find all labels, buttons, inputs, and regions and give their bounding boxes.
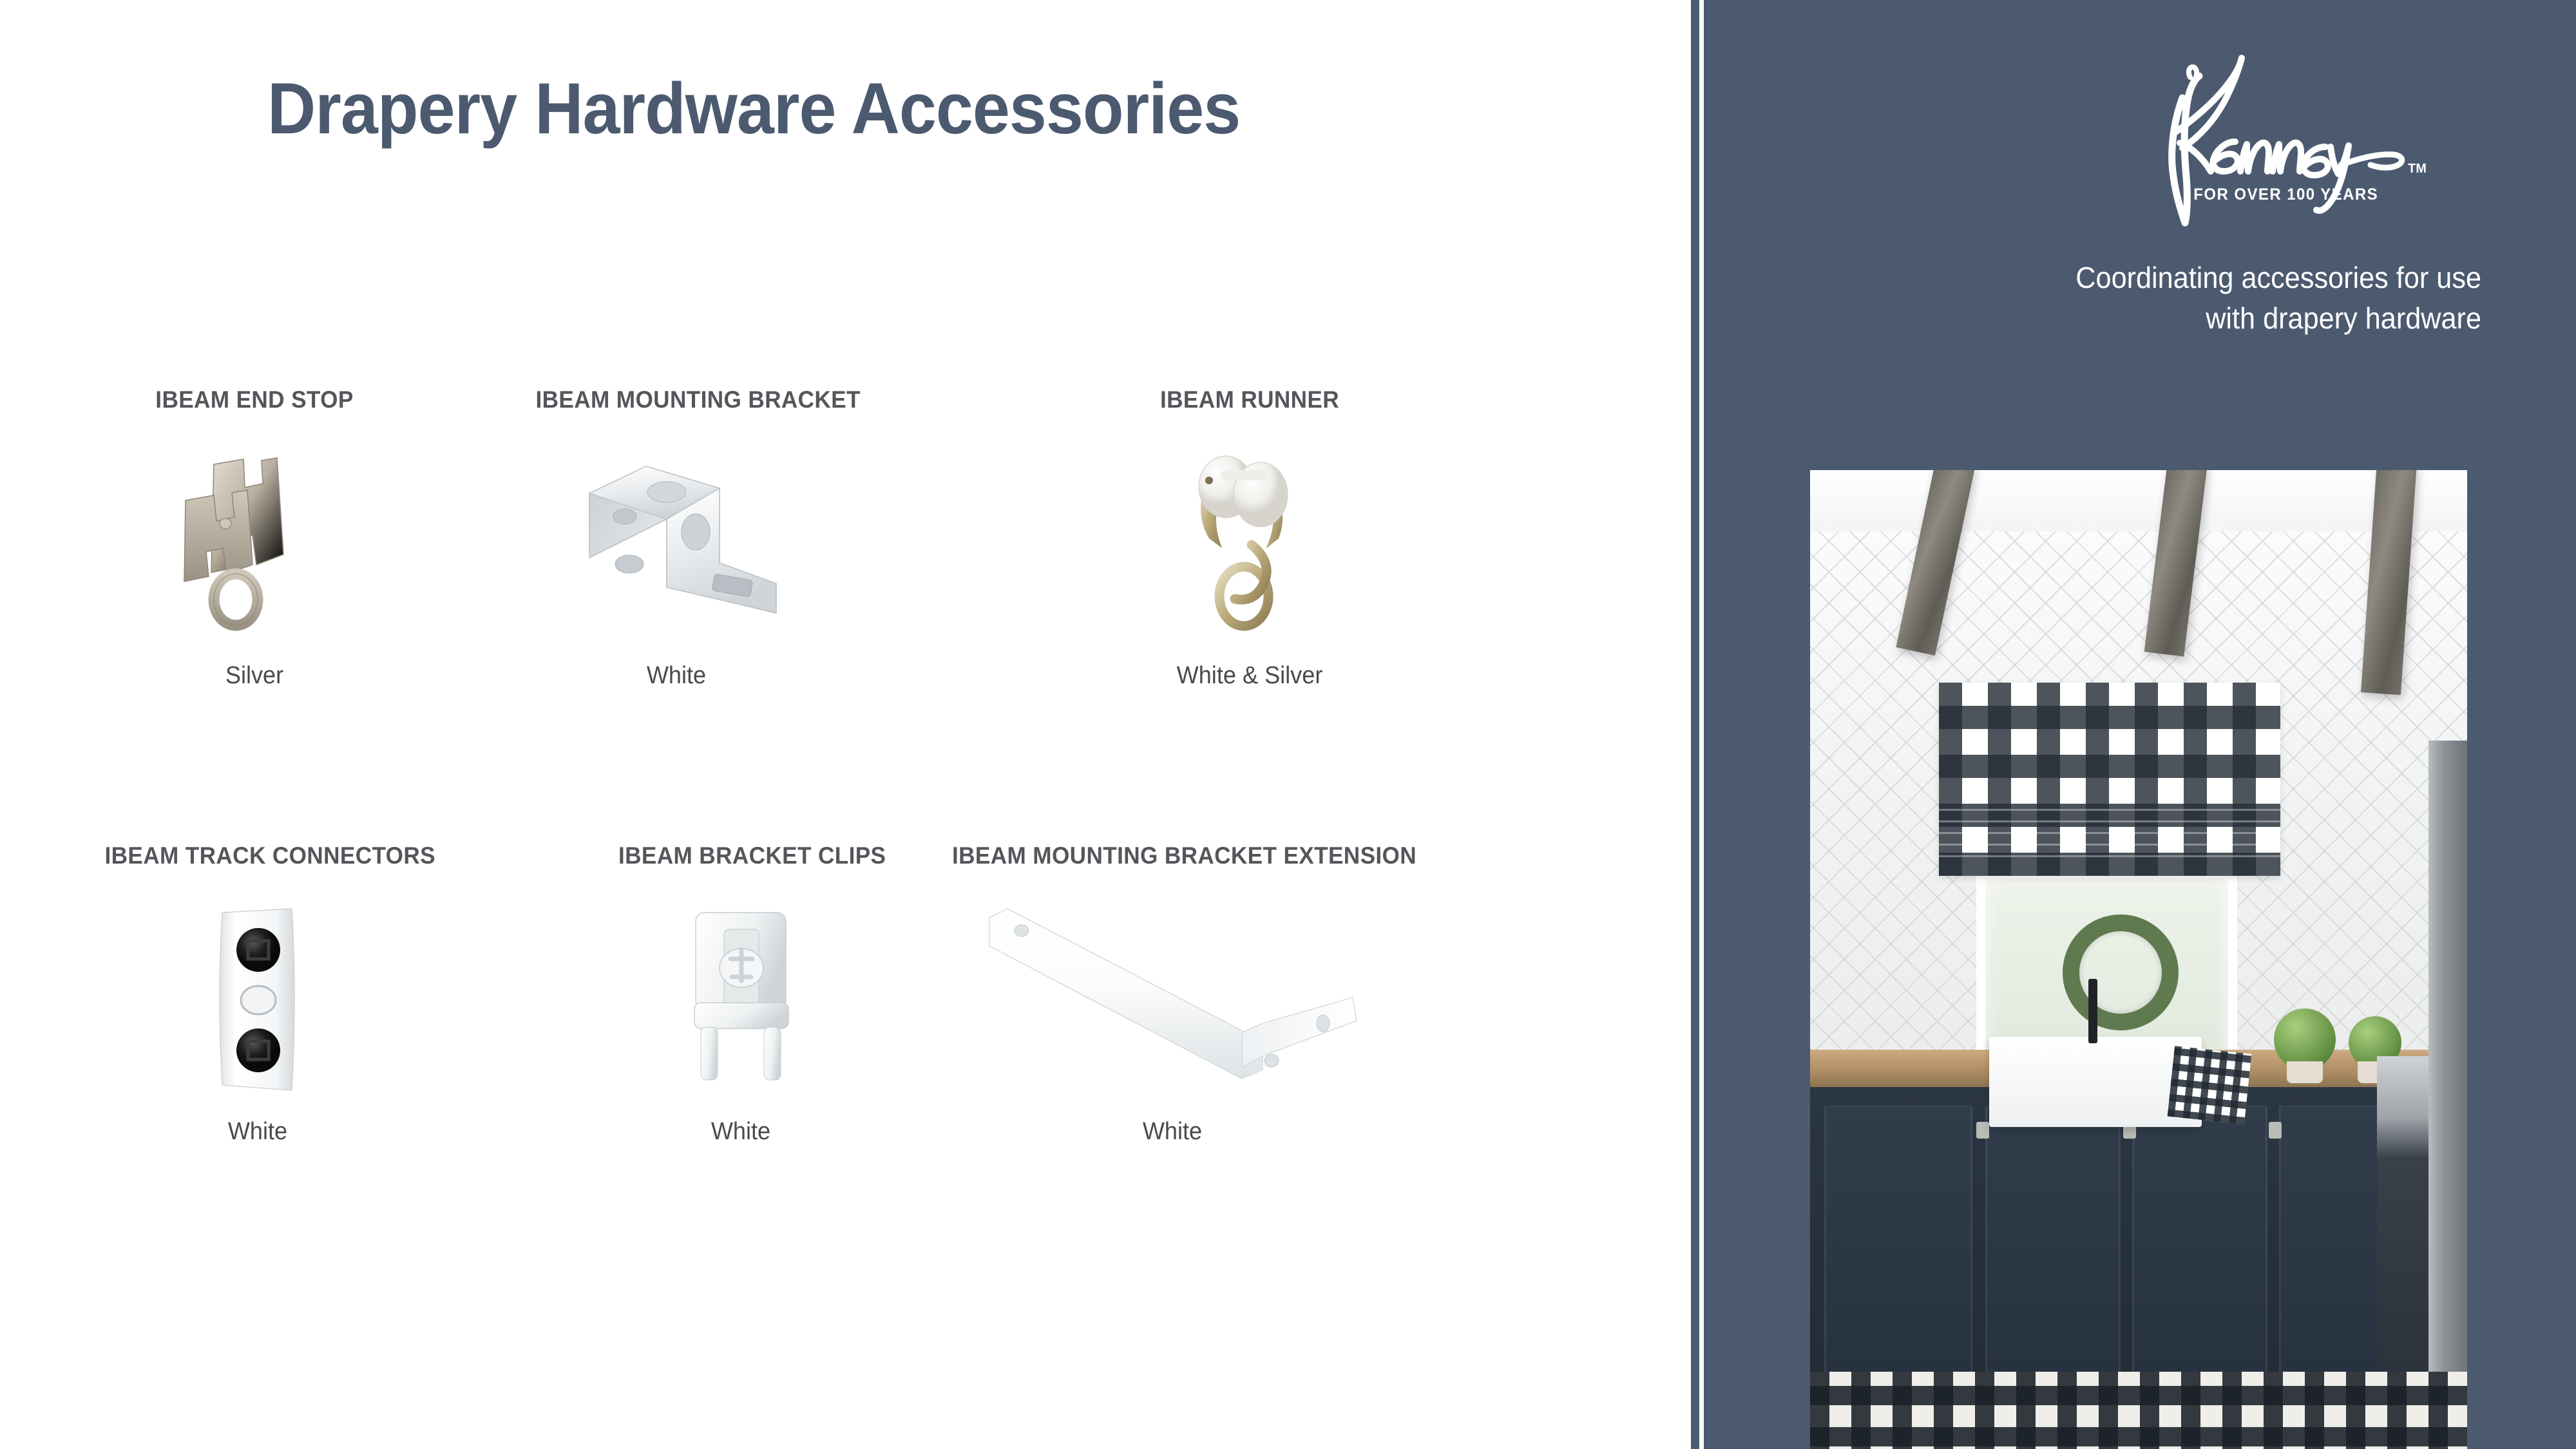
product-card-ibeam-track-connectors[interactable]: IBEAM TRACK CONNECTORS [97,842,419,1146]
kenney-logo: TM FOR OVER 100 YEARS [2121,39,2481,232]
product-color: White [105,1118,411,1146]
logo-tagline-text: FOR OVER 100 YEARS [2193,186,2378,204]
ibeam-runner-photo [1082,435,1417,648]
ibeam-mounting-bracket-photo [528,435,825,648]
ibeam-track-connectors-photo [97,891,419,1104]
product-name: IBEAM RUNNER [1091,386,1409,413]
product-name: IBEAM MOUNTING BRACKET [536,386,817,413]
ibeam-end-stop-photo [138,435,370,648]
content-pane: Drapery Hardware Accessories IBEAM END S… [0,0,1691,1449]
product-card-ibeam-runner[interactable]: IBEAM RUNNER [1082,386,1417,690]
product-card-ibeam-mounting-bracket-extension[interactable]: IBEAM MOUNTING BRACKET EXTENSION [940,842,1404,1146]
brand-tagline: Coordinating accessories for use with dr… [2021,258,2481,339]
product-color: White & Silver [1091,662,1409,690]
kitchen-room-photo [1810,470,2467,1449]
product-row: IBEAM TRACK CONNECTORS [0,842,1691,1298]
page-title: Drapery Hardware Accessories [267,71,1240,147]
product-grid: IBEAM END STOP [0,386,1691,1298]
product-color: White [618,1118,863,1146]
logo-trademark-text: TM [2408,162,2427,176]
product-card-ibeam-mounting-bracket[interactable]: IBEAM MOUNTING BRACKET [528,386,825,690]
product-color: White [952,1118,1393,1146]
ibeam-mounting-bracket-extension-photo [940,891,1404,1104]
slide-canvas: Drapery Hardware Accessories IBEAM END S… [0,0,2576,1449]
product-name: IBEAM TRACK CONNECTORS [105,842,411,869]
brand-tagline-line-1: Coordinating accessories for use [2021,258,2481,298]
product-card-ibeam-end-stop[interactable]: IBEAM END STOP [138,386,370,690]
product-name: IBEAM END STOP [144,386,365,413]
brand-pane: TM FOR OVER 100 YEARS Coordinating acces… [1704,0,2576,1449]
product-color: Silver [144,662,365,690]
product-row: IBEAM END STOP [0,386,1691,842]
product-name: IBEAM BRACKET CLIPS [618,842,863,869]
brand-tagline-line-2: with drapery hardware [2021,298,2481,339]
accent-divider-bar [1691,0,1699,1449]
product-name: IBEAM MOUNTING BRACKET EXTENSION [952,842,1393,869]
ibeam-bracket-clips-photo [612,891,870,1104]
product-card-ibeam-bracket-clips[interactable]: IBEAM BRACKET CLIPS [612,842,870,1146]
product-color: White [536,662,817,690]
